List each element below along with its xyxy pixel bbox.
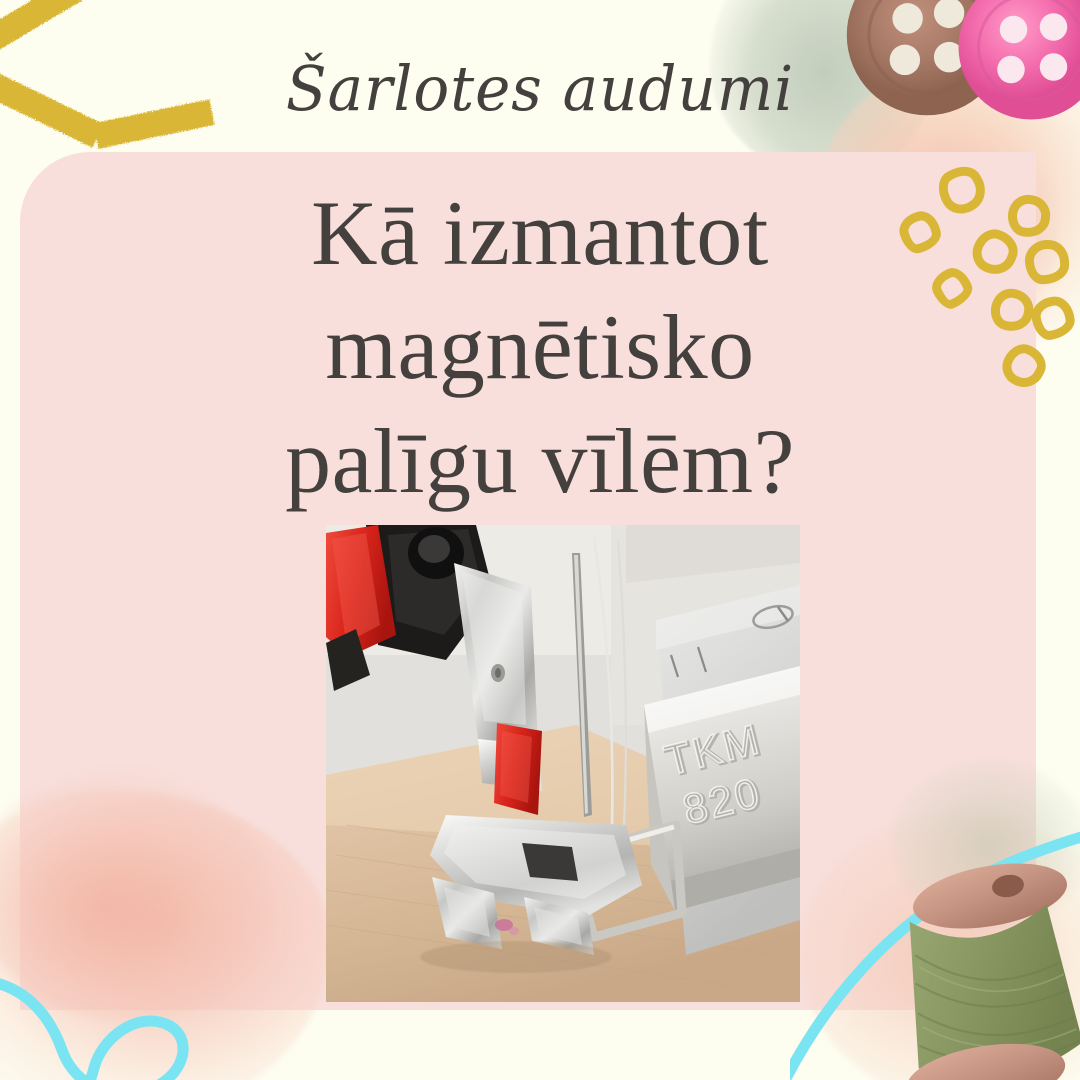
sewing-machine-photo: TKM 820 TKM 820 xyxy=(326,525,800,1002)
page-title: Kā izmantot magnētisko palīgu vīlēm? xyxy=(0,176,1080,518)
heading-line-2: magnētisko xyxy=(0,290,1080,404)
heading-line-1: Kā izmantot xyxy=(0,176,1080,290)
photo-illustration: TKM 820 TKM 820 xyxy=(326,525,800,1002)
thread-spool-icon xyxy=(878,844,1080,1080)
brand-name: Šarlotes audumi xyxy=(22,52,1059,125)
heading-line-3: palīgu vīlēm? xyxy=(0,404,1080,518)
poster-canvas: Šarlotes audumi Kā izmantot magnētisko p… xyxy=(0,0,1080,1080)
